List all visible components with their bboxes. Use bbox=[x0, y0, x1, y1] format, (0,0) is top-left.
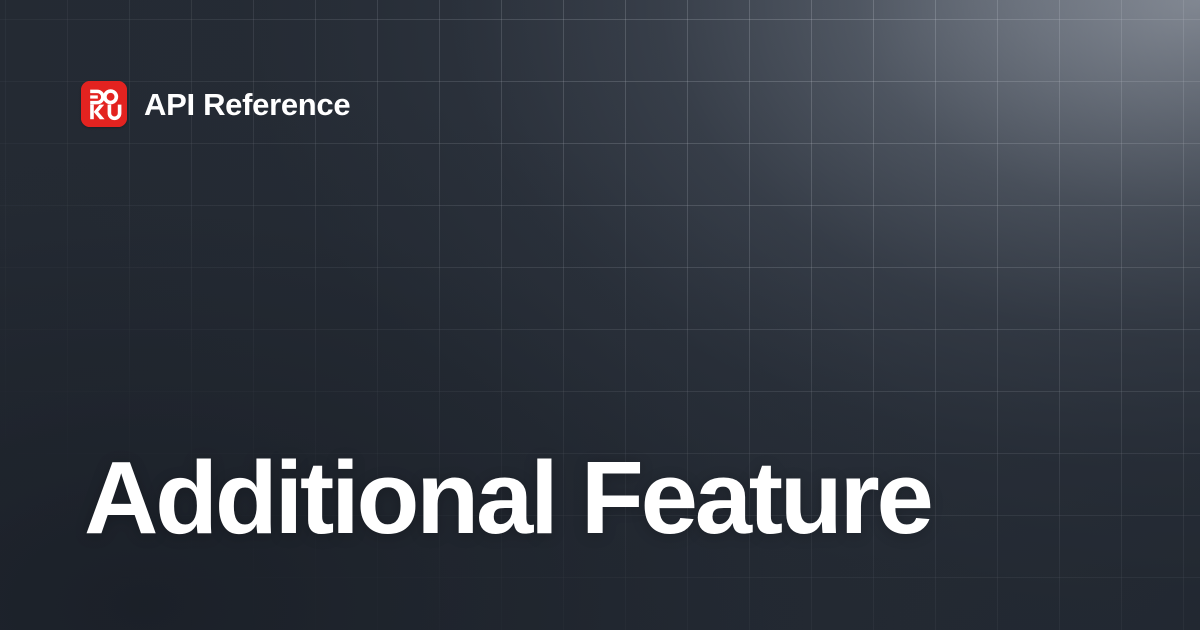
brand-lockup: API Reference bbox=[81, 81, 350, 127]
doku-logo-icon bbox=[81, 81, 127, 127]
og-card: API Reference Additional Feature bbox=[0, 0, 1200, 630]
page-title: Additional Feature bbox=[84, 443, 1116, 552]
brand-title: API Reference bbox=[144, 89, 350, 120]
